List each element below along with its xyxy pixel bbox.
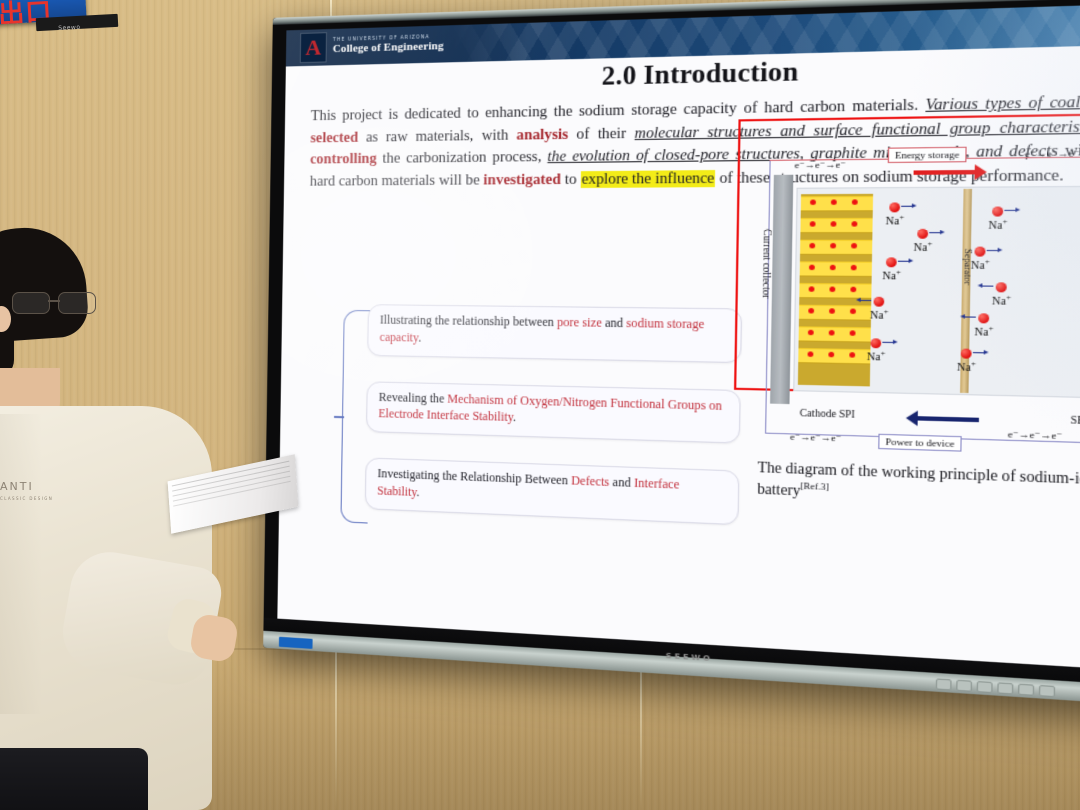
bullet-item-3: Investigating the Relationship Between D…	[365, 458, 740, 525]
sodium-ion-sphere	[886, 257, 897, 267]
ion-motion-arrow	[987, 250, 999, 252]
bezel-button-back[interactable]	[977, 681, 993, 693]
sodium-ion-label: Na+	[885, 213, 904, 228]
bullet-item-1: Illustrating the relationship between po…	[367, 304, 742, 363]
electron-flow-label-bottom-right: e⁻→e⁻→e⁻	[1008, 429, 1063, 443]
electron-flow-label-top-right: e⁻→e⁻→e⁻	[1025, 148, 1080, 161]
bullet-text-a: Illustrating the relationship between	[380, 313, 557, 329]
sodium-ion-label: Na+	[971, 258, 990, 273]
ion-motion-arrow	[964, 316, 976, 318]
cathode-sodium-dot	[829, 308, 835, 314]
sodium-ion-label: Na+	[913, 240, 932, 255]
presenter-shoulder-shading	[0, 414, 42, 714]
figure-caption-text: The diagram of the working principle of …	[757, 459, 1080, 498]
cathode-sodium-dot	[851, 221, 857, 226]
cathode-sodium-dot	[809, 243, 815, 248]
charge-direction-arrow	[914, 170, 976, 175]
bezel-button-volume-up[interactable]	[1039, 685, 1055, 697]
sodium-ion-label: Na+	[992, 293, 1011, 308]
cathode-sodium-dot	[810, 221, 816, 226]
display-brand-logo: SEEWO	[666, 651, 713, 664]
bullet-text-c: .	[418, 331, 421, 344]
sodium-ion-label: Na+	[870, 308, 889, 323]
sodium-ion-label: Na+	[867, 349, 886, 364]
body-run-6: of their	[568, 125, 635, 143]
sodium-ion-label: Na+	[957, 360, 976, 375]
logo-college-line: College of Engineering	[333, 40, 444, 56]
bezel-button-volume-down[interactable]	[1018, 684, 1034, 696]
presentation-slide: THE UNIVERSITY OF ARIZONA College of Eng…	[277, 3, 1080, 672]
battery-diagram: Current collector Current collector Sepa…	[758, 131, 1080, 461]
cathode-sodium-dot	[808, 308, 814, 313]
sodium-ion-sphere	[961, 349, 972, 359]
bullet-text-b: .	[513, 411, 516, 425]
ion-motion-arrow	[860, 300, 872, 302]
body-run-4: as raw materials, with	[358, 127, 517, 146]
sweatshirt-chest-print: ANTI CLASSIC DESIGN	[0, 480, 53, 501]
bezel-button-menu[interactable]	[997, 682, 1013, 694]
body-run-1: Various types of coal	[925, 94, 1080, 115]
cathode-sodium-dot	[849, 352, 855, 358]
glasses-lens-left	[12, 292, 50, 314]
cathode-sodium-dot	[851, 265, 857, 270]
sodium-ion-sphere	[874, 297, 885, 307]
ion-motion-arrow	[929, 232, 941, 234]
cathode-sodium-dot	[852, 199, 858, 204]
cathode-sodium-dot	[830, 265, 836, 270]
ion-motion-arrow	[981, 286, 993, 288]
sodium-ion-label: Na+	[988, 218, 1007, 233]
university-logo: THE UNIVERSITY OF ARIZONA College of Eng…	[300, 29, 444, 64]
presenter-person: ANTI CLASSIC DESIGN	[0, 228, 254, 810]
sodium-ion-label: Na+	[882, 268, 901, 283]
interactive-flat-panel[interactable]: THE UNIVERSITY OF ARIZONA College of Eng…	[263, 0, 1080, 707]
figure-caption-ref: [Ref.3]	[800, 481, 829, 493]
bullet-highlight-a: pore size	[557, 316, 602, 330]
anode-label: SEI anode	[1070, 416, 1080, 429]
display-screen[interactable]: THE UNIVERSITY OF ARIZONA College of Eng…	[277, 3, 1080, 672]
energy-storage-tag: Energy storage	[888, 147, 967, 163]
body-run-13: investigated	[483, 172, 561, 189]
bullet-highlight-a: Defects	[571, 474, 609, 489]
electron-flow-label-top-left: e⁻→e⁻→e⁻	[795, 159, 846, 171]
ion-motion-arrow	[901, 206, 913, 208]
power-to-device-tag: Power to device	[878, 434, 962, 452]
glasses-lens-right	[58, 292, 96, 314]
bezel-button-home[interactable]	[956, 680, 972, 692]
bullet-text-a: Revealing the	[379, 390, 448, 405]
sodium-ion-sphere	[978, 313, 989, 323]
sodium-ion-sphere	[917, 229, 928, 239]
sweatshirt-chest-subtext: CLASSIC DESIGN	[0, 496, 53, 501]
cathode-sodium-dot	[850, 330, 856, 336]
screenshot-root: 出口 Seewo THE UNIVERSITY OF ARIZONA Colle…	[0, 0, 1080, 810]
body-run-9: controlling	[310, 151, 377, 168]
ion-motion-arrow	[973, 352, 985, 354]
current-collector-left	[770, 175, 793, 404]
sodium-ion-sphere	[870, 338, 881, 348]
ion-motion-arrow	[882, 342, 894, 344]
bullet-text-c: .	[416, 486, 419, 499]
bezel-button-power[interactable]	[936, 678, 952, 690]
bezel-badge	[279, 637, 313, 649]
bullet-text-b: and	[602, 316, 627, 330]
cathode-sodium-dot	[809, 286, 815, 291]
bullet-list: Illustrating the relationship between po…	[364, 304, 742, 552]
cathode-sodium-dot	[809, 265, 815, 270]
electron-flow-label-bottom-left: e⁻→e⁻→e⁻	[790, 431, 841, 444]
body-run-14: to	[561, 171, 581, 188]
presenter-trousers	[0, 748, 148, 810]
cathode-sodium-dot	[829, 287, 835, 292]
cathode-sodium-dot	[829, 330, 835, 336]
bullet-item-2: Revealing the Mechanism of Oxygen/Nitrog…	[366, 381, 741, 444]
current-collector-left-label: Current collector	[759, 229, 772, 299]
cathode-sodium-dot	[808, 330, 814, 336]
body-run-15: explore the influence	[580, 170, 715, 188]
ion-motion-arrow	[1004, 210, 1016, 212]
cathode-label: Cathode SPI	[800, 409, 856, 421]
cathode-sodium-dot	[851, 243, 857, 248]
sweatshirt-chest-text: ANTI	[0, 480, 34, 493]
figure-caption: The diagram of the working principle of …	[757, 457, 1080, 513]
logo-text-group: THE UNIVERSITY OF ARIZONA College of Eng…	[333, 35, 444, 56]
sodium-ion-label: Na+	[974, 324, 993, 339]
cathode-sodium-dot	[850, 287, 856, 293]
cathode-sodium-dot	[850, 309, 856, 315]
glasses-bridge	[48, 300, 60, 302]
body-run-3: selected	[310, 129, 358, 146]
cathode-layered-structure	[798, 194, 873, 387]
bullet-text-b: and	[609, 476, 634, 491]
cathode-sodium-dot	[830, 243, 836, 248]
body-run-10: the carbonization process,	[377, 149, 548, 167]
ion-motion-arrow	[898, 261, 910, 263]
arizona-block-a-icon	[300, 32, 327, 63]
cathode-sodium-dot	[831, 221, 837, 226]
cathode-sodium-dot	[808, 351, 814, 357]
cathode-sodium-dot	[828, 352, 834, 358]
presenter-glasses	[12, 292, 98, 313]
sodium-ion-sphere	[996, 282, 1007, 292]
body-run-5: analysis	[516, 126, 568, 143]
